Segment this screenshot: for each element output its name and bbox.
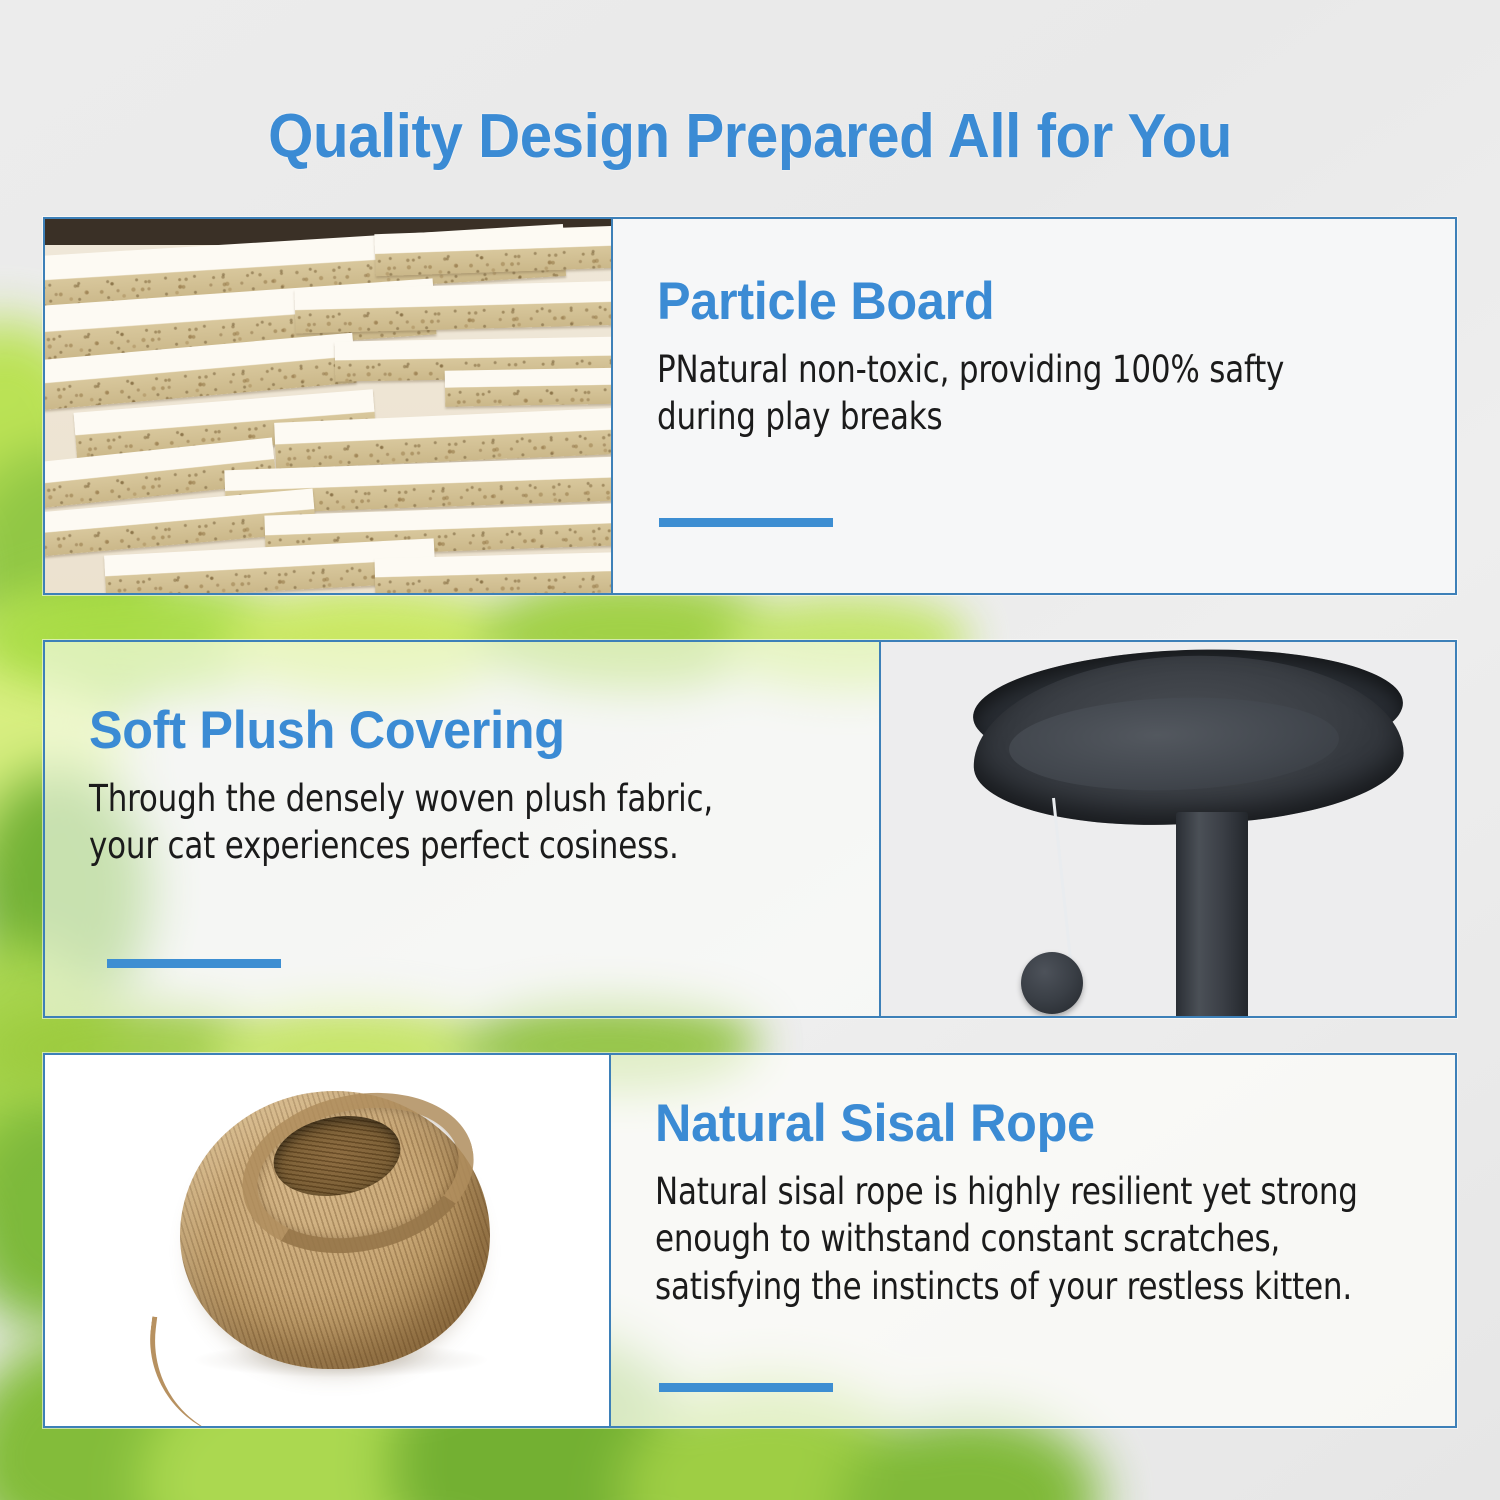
sisal-rope-image — [45, 1055, 609, 1426]
card-heading-particle-board: Particle Board — [657, 275, 1377, 328]
accent-bar — [659, 1383, 833, 1392]
card-text-particle-board: PNatural non-toxic, providing 100% safty… — [657, 346, 1362, 441]
card-text-soft-plush: Through the densely woven plush fabric, … — [89, 775, 787, 870]
toy-string — [1052, 798, 1072, 963]
card-text-sisal-rope: Natural sisal rope is highly resilient y… — [655, 1168, 1362, 1310]
toy-pompom-ball — [1021, 952, 1083, 1014]
particle-board-image — [45, 219, 611, 593]
feature-card-soft-plush: Soft Plush Covering Through the densely … — [43, 640, 1457, 1018]
card-heading-soft-plush: Soft Plush Covering — [89, 704, 802, 757]
product-feature-infographic: Quality Design Prepared All for You — [0, 0, 1500, 1500]
particle-board-text-panel: Particle Board PNatural non-toxic, provi… — [611, 219, 1455, 593]
cat-perch-image — [879, 642, 1455, 1016]
soft-plush-text-panel: Soft Plush Covering Through the densely … — [45, 642, 879, 1016]
rope-loose-end — [139, 1316, 267, 1426]
feature-card-particle-board: Particle Board PNatural non-toxic, provi… — [43, 217, 1457, 595]
accent-bar — [659, 518, 833, 527]
perch-post — [1176, 812, 1248, 1016]
feature-card-sisal-rope: Natural Sisal Rope Natural sisal rope is… — [43, 1053, 1457, 1428]
card-heading-sisal-rope: Natural Sisal Rope — [655, 1097, 1377, 1150]
sisal-rope-text-panel: Natural Sisal Rope Natural sisal rope is… — [609, 1055, 1455, 1426]
page-title: Quality Design Prepared All for You — [45, 104, 1455, 169]
